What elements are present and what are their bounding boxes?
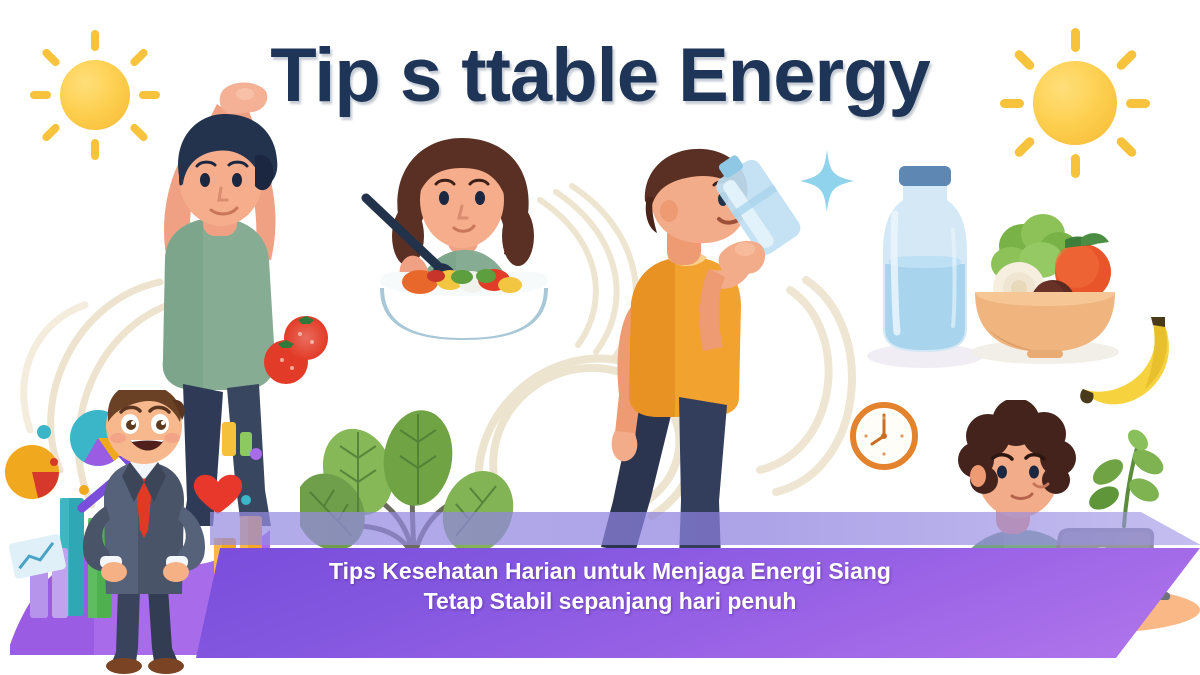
tomatoes-icon bbox=[258, 310, 338, 390]
banner-top-band bbox=[210, 512, 1200, 545]
banana-icon bbox=[1075, 315, 1180, 410]
sparkle-icon bbox=[800, 150, 854, 212]
caption-line-1: Tips Kesehatan Harian untuk Menjaga Ener… bbox=[230, 556, 990, 586]
caption-line-2: Tetap Stabil sepanjang hari penuh bbox=[230, 586, 990, 616]
page-title: Tip s ttable Energy bbox=[0, 32, 1200, 119]
banner-caption: Tips Kesehatan Harian untuk Menjaga Ener… bbox=[230, 556, 990, 617]
wall-clock-icon bbox=[848, 400, 920, 472]
woman-eating-salad-illustration bbox=[352, 130, 572, 340]
poster-canvas: Tip s ttable Energy bbox=[0, 0, 1200, 675]
